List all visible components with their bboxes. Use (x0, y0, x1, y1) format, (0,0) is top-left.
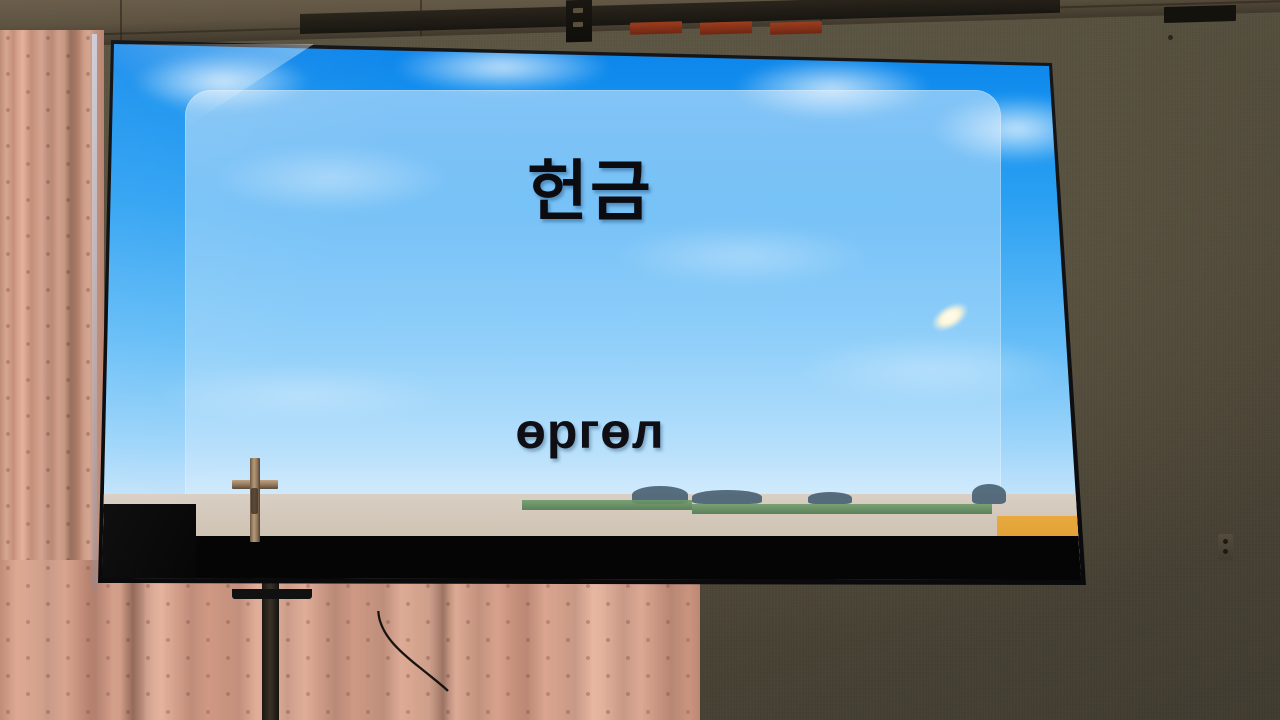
ceiling-light-red (770, 21, 822, 34)
power-cable (376, 584, 456, 718)
wall-vent (1164, 5, 1236, 23)
ceiling-light-red (700, 21, 752, 34)
wooden-cross-icon (232, 458, 278, 542)
room-scene: 헌금 өргөл (0, 0, 1280, 720)
slide-subtitle: өргөл (92, 402, 1088, 460)
tree-clump (808, 492, 852, 504)
slide-title: 헌금 (92, 138, 1088, 234)
tree-clump (972, 484, 1006, 504)
tv-left-edge-highlight (92, 34, 97, 590)
slide-bottom-band (92, 556, 1088, 590)
wall-screw-dot (1168, 35, 1173, 40)
tree-clump (692, 490, 762, 504)
tv-screen[interactable]: 헌금 өргөл (92, 34, 1088, 590)
light-switch[interactable] (1218, 534, 1233, 560)
green-strip (522, 500, 692, 510)
ceiling-light-red (630, 21, 682, 34)
television[interactable]: 헌금 өргөл (92, 34, 1088, 590)
tv-bottom-mount (232, 589, 312, 599)
left-dark-block (92, 504, 196, 590)
